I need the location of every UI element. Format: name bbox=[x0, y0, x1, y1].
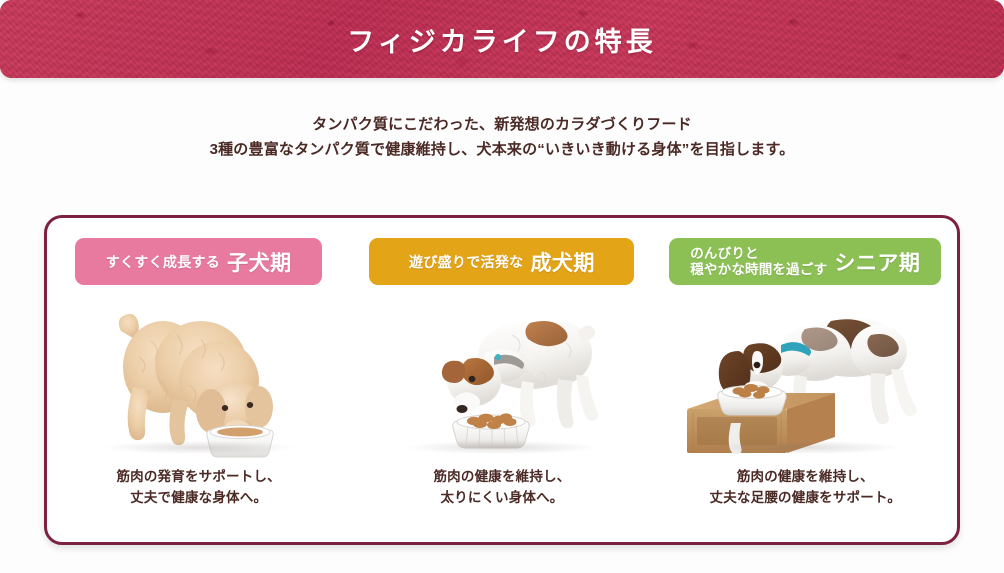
caption-line-2: 丈夫な足腰の健康をサポート。 bbox=[710, 487, 902, 508]
life-stage-column-puppy: すくすく成長する 子犬期 bbox=[47, 218, 350, 542]
life-stage-badge-adult[interactable]: 遊び盛りで活発な 成犬期 bbox=[369, 238, 634, 285]
caption-line-1: 筋肉の健康を維持し、 bbox=[710, 466, 902, 487]
life-stage-caption-puppy: 筋肉の発育をサポートし、 丈夫で健康な身体へ。 bbox=[116, 466, 280, 508]
badge-lead-text-senior: のんびりと 穏やかな時間を過ごす bbox=[690, 246, 827, 278]
caption-line-2: 太りにくい身体へ。 bbox=[433, 487, 570, 508]
life-stage-badge-senior[interactable]: のんびりと 穏やかな時間を過ごす シニア期 bbox=[669, 238, 941, 285]
caption-line-2: 丈夫で健康な身体へ。 bbox=[116, 487, 280, 508]
life-stage-column-senior: のんびりと 穏やかな時間を過ごす シニア期 bbox=[654, 218, 957, 542]
badge-lead-line-1: のんびりと bbox=[690, 246, 759, 261]
springer-spaniel-illustration bbox=[665, 295, 945, 460]
page-header-banner: フィジカライフの特長 bbox=[0, 0, 1004, 78]
page-title: フィジカライフの特長 bbox=[0, 0, 1004, 78]
caption-line-1: 筋肉の健康を維持し、 bbox=[433, 466, 570, 487]
adult-jack-russell-eating-photo bbox=[362, 295, 642, 460]
subtitle-block: タンパク質にこだわった、新発想のカラダづくりフード 3種の豊富なタンパク質で健康… bbox=[0, 112, 1004, 162]
jack-russell-illustration bbox=[362, 295, 642, 460]
subtitle-line-1: タンパク質にこだわった、新発想のカラダづくりフード bbox=[0, 112, 1004, 137]
senior-springer-spaniel-eating-photo bbox=[665, 295, 945, 460]
life-stage-caption-adult: 筋肉の健康を維持し、 太りにくい身体へ。 bbox=[433, 466, 570, 508]
photo-ground-shadow bbox=[710, 441, 900, 454]
badge-lead-text-puppy: すくすく成長する bbox=[106, 252, 220, 272]
life-stage-columns: すくすく成長する 子犬期 bbox=[47, 218, 957, 542]
badge-title-senior: シニア期 bbox=[834, 247, 920, 277]
feature-page: フィジカライフの特長 タンパク質にこだわった、新発想のカラダづくりフード 3種の… bbox=[0, 0, 1004, 573]
badge-lead-text-adult: 遊び盛りで活発な bbox=[409, 252, 523, 272]
caption-line-1: 筋肉の発育をサポートし、 bbox=[116, 466, 280, 487]
photo-ground-shadow bbox=[407, 441, 597, 454]
poodle-illustration bbox=[59, 295, 339, 460]
subtitle-line-2: 3種の豊富なタンパク質で健康維持し、犬本来の“いきいき動ける身体”を目指します。 bbox=[0, 137, 1004, 162]
badge-lead-line-2: 穏やかな時間を過ごす bbox=[690, 262, 827, 277]
life-stage-caption-senior: 筋肉の健康を維持し、 丈夫な足腰の健康をサポート。 bbox=[710, 466, 902, 508]
badge-title-puppy: 子犬期 bbox=[227, 247, 292, 277]
life-stage-badge-puppy[interactable]: すくすく成長する 子犬期 bbox=[75, 238, 322, 285]
badge-title-adult: 成犬期 bbox=[530, 247, 595, 277]
photo-ground-shadow bbox=[104, 441, 294, 454]
life-stage-column-adult: 遊び盛りで活発な 成犬期 bbox=[350, 218, 653, 542]
puppy-poodle-eating-photo bbox=[59, 295, 339, 460]
life-stage-card: すくすく成長する 子犬期 bbox=[44, 215, 960, 545]
